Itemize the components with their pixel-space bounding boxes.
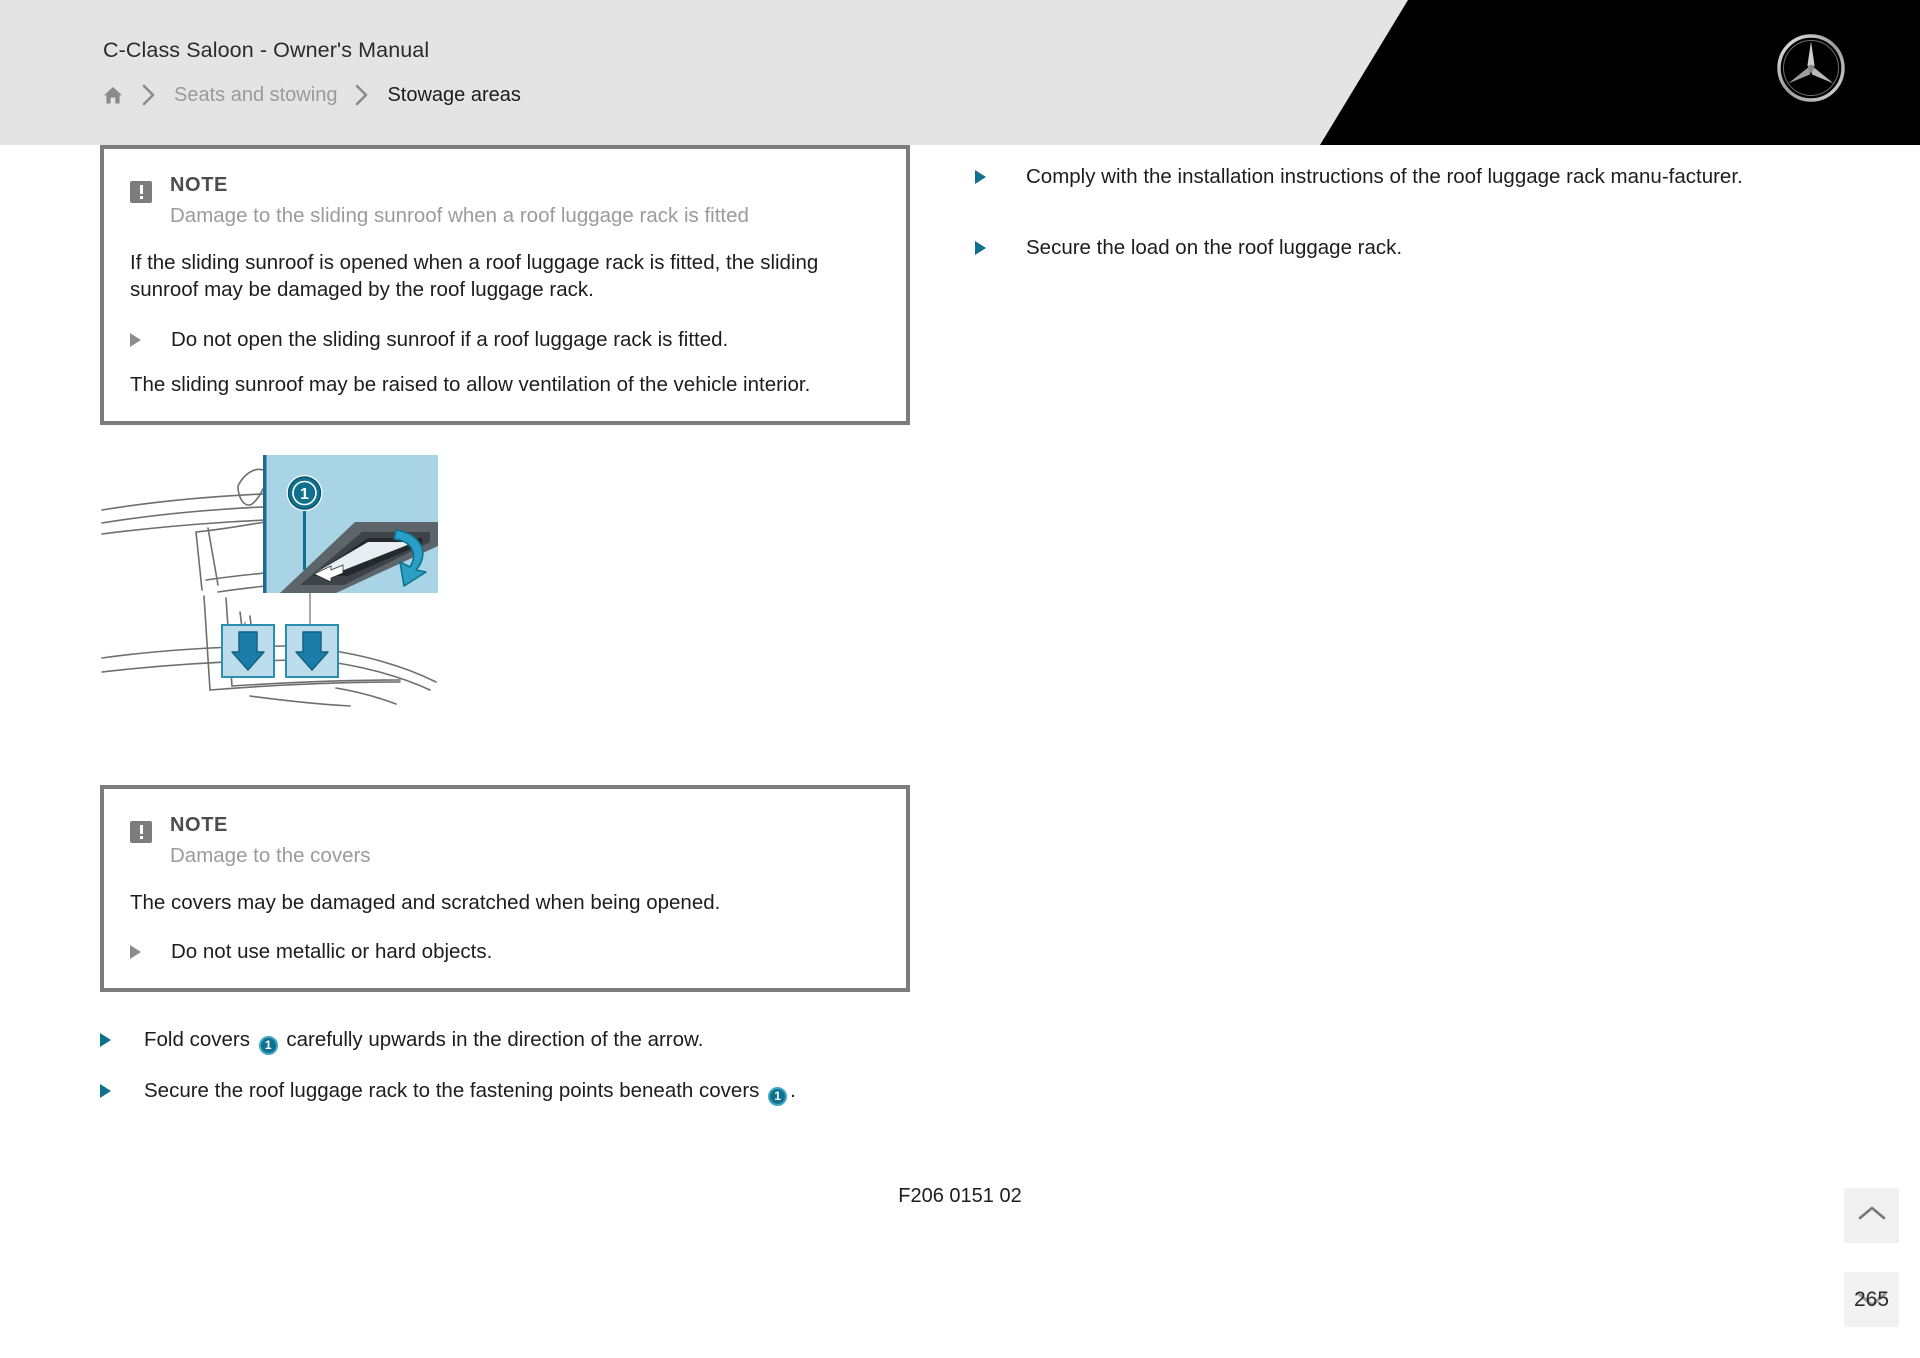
instruction-list: Fold covers 1 carefully upwards in the d… [100, 1026, 910, 1106]
note-bullet-list: Do not open the sliding sunroof if a roo… [130, 326, 880, 353]
note-subtitle: Damage to the covers [170, 841, 880, 871]
figure-caption: F206 0151 02 [0, 1185, 1920, 1208]
right-column: Comply with the installation instruction… [975, 145, 1795, 306]
inset-detail: 1 [263, 455, 438, 593]
breadcrumb-item-stowage-areas[interactable]: Stowage areas [385, 84, 522, 107]
bullet-triangle-icon [975, 170, 986, 184]
note-header: NOTE Damage to the sliding sunroof when … [130, 173, 880, 231]
roof-luggage-rack-illustration: 1 [100, 450, 520, 745]
list-item: Comply with the installation instruction… [975, 163, 1795, 190]
left-column: NOTE Damage to the sliding sunroof when … [100, 145, 910, 1106]
chevron-right-icon-1 [126, 82, 172, 108]
chevron-right-icon-2 [339, 82, 385, 108]
page-number: 265 [1854, 1288, 1889, 1312]
note-label: NOTE [170, 173, 880, 198]
note-box-damage-to-covers: NOTE Damage to the covers The covers may… [100, 785, 910, 992]
bullet-triangle-icon [130, 333, 141, 347]
note-exclamation-icon [130, 181, 152, 203]
list-item: Fold covers 1 carefully upwards in the d… [100, 1026, 910, 1055]
note-exclamation-icon [130, 821, 152, 843]
note-closing-paragraph: The sliding sunroof may be raised to all… [130, 371, 880, 399]
bullet-triangle-icon [100, 1084, 111, 1098]
bullet-text: Do not open the sliding sunroof if a roo… [171, 326, 728, 353]
callout-marker: 1 [259, 1036, 278, 1055]
down-arrow-box-right [286, 625, 338, 677]
breadcrumb: Seats and stowing Stowage areas [100, 80, 523, 110]
note-paragraph: If the sliding sunroof is opened when a … [130, 249, 880, 304]
note-paragraph: The covers may be damaged and scratched … [130, 889, 880, 917]
note-header-texts: NOTE Damage to the covers [170, 813, 880, 871]
scroll-to-top-button[interactable] [1844, 1188, 1899, 1243]
svg-text:1: 1 [300, 486, 309, 503]
list-item: Do not open the sliding sunroof if a roo… [130, 326, 880, 353]
page-title: C-Class Saloon - Owner's Manual [103, 38, 429, 63]
instruction-text: Fold covers 1 carefully upwards in the d… [144, 1026, 703, 1055]
note-bullet-list: Do not use metallic or hard objects. [130, 938, 880, 965]
note-label: NOTE [170, 813, 880, 838]
bullet-text: Comply with the installation instruction… [1026, 163, 1743, 190]
list-item: Secure the load on the roof luggage rack… [975, 234, 1795, 261]
manual-page: C-Class Saloon - Owner's Manual Seats an… [0, 0, 1920, 1358]
bullet-triangle-icon [100, 1033, 111, 1047]
bullet-triangle-icon [975, 241, 986, 255]
right-bullet-list: Comply with the installation instruction… [975, 145, 1795, 262]
page-indicator[interactable]: 265 [1844, 1272, 1899, 1327]
bullet-triangle-icon [130, 945, 141, 959]
bullet-text: Do not use metallic or hard objects. [171, 938, 492, 965]
page-content: NOTE Damage to the sliding sunroof when … [0, 145, 1920, 1358]
page-header: C-Class Saloon - Owner's Manual Seats an… [0, 0, 1920, 145]
note-header: NOTE Damage to the covers [130, 813, 880, 871]
list-item: Do not use metallic or hard objects. [130, 938, 880, 965]
mercedes-benz-star-icon [1775, 32, 1847, 104]
note-header-texts: NOTE Damage to the sliding sunroof when … [170, 173, 880, 231]
list-item: Secure the roof luggage rack to the fast… [100, 1077, 910, 1106]
chevron-up-icon [1857, 1203, 1887, 1228]
instruction-text: Secure the roof luggage rack to the fast… [144, 1077, 796, 1106]
note-subtitle: Damage to the sliding sunroof when a roo… [170, 201, 880, 231]
home-icon[interactable] [100, 82, 126, 108]
note-box-sliding-sunroof: NOTE Damage to the sliding sunroof when … [100, 145, 910, 425]
bullet-text: Secure the load on the roof luggage rack… [1026, 234, 1402, 261]
down-arrow-box-left [222, 625, 274, 677]
breadcrumb-item-seats-and-stowing[interactable]: Seats and stowing [172, 84, 339, 107]
callout-marker: 1 [768, 1087, 787, 1106]
